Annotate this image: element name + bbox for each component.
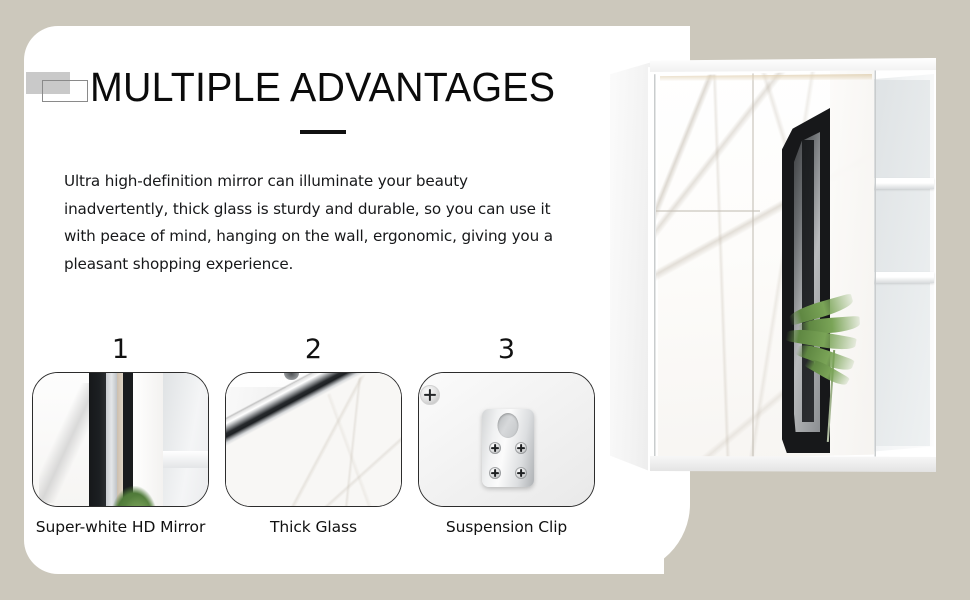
feature-item-3: 3 Suspension Clip (410, 336, 603, 536)
feature-caption: Super-white HD Mirror (36, 518, 205, 536)
shelf-board (872, 272, 934, 283)
clip-screw-icon (489, 467, 501, 479)
clip-keyhole (498, 413, 519, 438)
description-paragraph: Ultra high-definition mirror can illumin… (64, 168, 576, 278)
shelf-board (872, 178, 934, 189)
feature-item-1: 1 Super-white HD Mirror (24, 336, 217, 536)
feature-caption: Suspension Clip (446, 518, 567, 536)
feature-thumbnail-mirror-edge (32, 372, 209, 507)
product-photo (610, 56, 950, 486)
infographic-canvas: MULTIPLE ADVANTAGES Ultra high-definitio… (0, 0, 970, 600)
shelf-back-panel (876, 80, 930, 446)
page-title: MULTIPLE ADVANTAGES (90, 67, 555, 108)
square-accent-icon (26, 70, 88, 104)
mirror-door (656, 70, 874, 460)
clip-screw-icon (489, 442, 501, 454)
square-accent-outline (42, 80, 88, 102)
reflected-plant (784, 296, 868, 446)
thumb1-plant-highlight (125, 494, 159, 507)
thumb3-corner-screw-icon (420, 385, 440, 405)
cabinet-side-panel (610, 62, 652, 472)
tile-seam-vertical (752, 70, 754, 460)
thumb2-top-seam (226, 373, 401, 506)
feature-list: 1 Super-white HD Mirror 2 (24, 336, 604, 536)
page-title-row: MULTIPLE ADVANTAGES (26, 62, 575, 112)
feature-item-2: 2 Thick Glass (217, 336, 410, 536)
clip-screw-icon (515, 467, 527, 479)
feature-number: 1 (112, 336, 129, 363)
feature-thumbnail-suspension-clip (418, 372, 595, 507)
feature-caption: Thick Glass (270, 518, 357, 536)
feature-number: 3 (498, 336, 515, 363)
cabinet-top-lip (650, 58, 936, 72)
thumb1-dark-band-outer (89, 372, 106, 507)
thumb1-right-panel (163, 372, 209, 507)
cabinet-bottom-lip (650, 456, 936, 472)
title-divider (300, 130, 346, 134)
clip-screw-icon (515, 442, 527, 454)
tile-seam-horizontal (656, 210, 760, 212)
suspension-clip-plate (482, 409, 534, 487)
feature-thumbnail-thick-glass (225, 372, 402, 507)
feature-number: 2 (305, 336, 322, 363)
thumb1-shelf (163, 451, 209, 468)
